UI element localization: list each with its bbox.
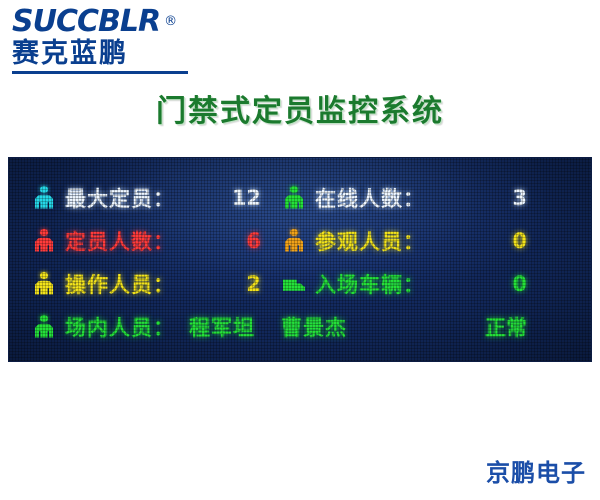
led-display-panel: 最大定员： 12 在线人数： 3 定员人数： 6 参观人员： 0 操作人员： 2 xyxy=(8,157,592,362)
registered-trademark-icon: ® xyxy=(164,6,176,38)
person-icon xyxy=(33,315,55,339)
occupants-name-list: 程军坦 曹景杰 xyxy=(189,312,347,342)
max-capacity-label: 最大定员： xyxy=(65,183,175,213)
vehicle-count-value: 0 xyxy=(512,272,531,296)
quota-count-value: 6 xyxy=(246,229,265,253)
online-count-label: 在线人数： xyxy=(315,183,425,213)
status-badge: 正常 xyxy=(485,312,531,342)
max-capacity-value: 12 xyxy=(232,186,265,210)
logo-chinese-label: 赛克蓝鹏 xyxy=(12,39,222,69)
operator-count-label: 操作人员： xyxy=(65,269,175,299)
row-operator-count: 操作人员： 2 xyxy=(33,262,265,305)
person-icon xyxy=(33,229,55,253)
person-icon xyxy=(33,186,55,210)
row-vehicle-count: 入场车辆： 0 xyxy=(283,262,531,305)
row-max-capacity: 最大定员： 12 xyxy=(33,176,265,219)
row-visitor-count: 参观人员： 0 xyxy=(283,219,531,262)
truck-icon xyxy=(283,272,305,296)
row-occupants: 场内人员： 程军坦 曹景杰 正常 xyxy=(33,305,531,348)
person-icon xyxy=(33,272,55,296)
person-icon xyxy=(283,229,305,253)
led-readout-grid: 最大定员： 12 在线人数： 3 定员人数： 6 参观人员： 0 操作人员： 2 xyxy=(33,176,573,348)
person-icon xyxy=(283,186,305,210)
occupant-name: 曹景杰 xyxy=(281,312,347,342)
logo-english-text: SUCCBLR ® xyxy=(12,6,160,38)
vehicle-count-label: 入场车辆： xyxy=(315,269,425,299)
company-logo: SUCCBLR ® 赛克蓝鹏 xyxy=(12,6,222,72)
visitor-count-value: 0 xyxy=(512,229,531,253)
occupants-label: 场内人员： xyxy=(65,312,175,342)
operator-count-value: 2 xyxy=(246,272,265,296)
page-title: 门禁式定员监控系统 xyxy=(0,86,600,130)
occupant-name: 程军坦 xyxy=(189,312,255,342)
row-quota-count: 定员人数： 6 xyxy=(33,219,265,262)
row-online-count: 在线人数： 3 xyxy=(283,176,531,219)
footer-brand-label: 京鹏电子 xyxy=(486,453,586,488)
logo-english-label: SUCCBLR xyxy=(12,4,160,39)
visitor-count-label: 参观人员： xyxy=(315,226,425,256)
logo-divider xyxy=(12,71,188,74)
quota-count-label: 定员人数： xyxy=(65,226,175,256)
online-count-value: 3 xyxy=(512,186,531,210)
